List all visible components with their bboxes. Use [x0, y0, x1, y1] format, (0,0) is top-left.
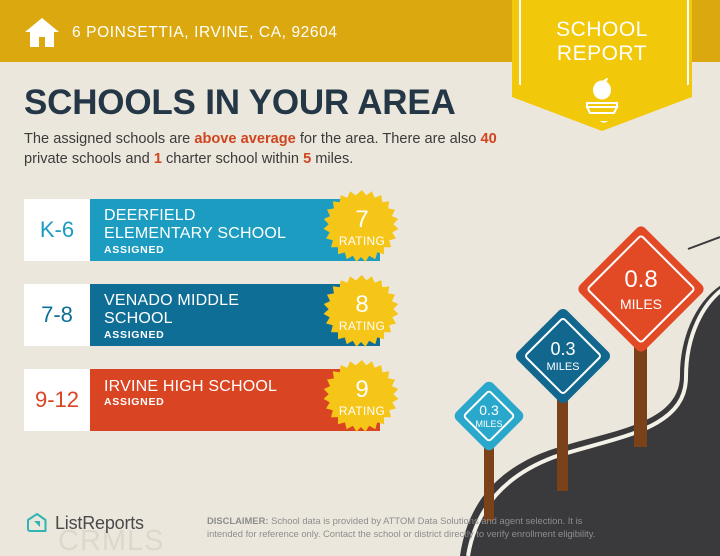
- rating-value: 9: [322, 376, 402, 404]
- sign-distance: 0.3: [479, 403, 498, 417]
- sign-post: [557, 391, 568, 491]
- school-name-line1: VENADO MIDDLE: [104, 292, 319, 310]
- badge-title-line2: REPORT: [512, 42, 692, 66]
- sign-unit: MILES: [546, 362, 579, 373]
- grade-badge: K-6: [24, 199, 90, 261]
- school-name-line2: ELEMENTARY SCHOOL: [104, 225, 319, 243]
- road-far-edge: [688, 237, 720, 249]
- rating-label: RATING: [322, 319, 402, 333]
- rating-label: RATING: [322, 404, 402, 418]
- school-status: ASSIGNED: [104, 244, 164, 256]
- road-scene: 0.3 MILES 0.3 MILES 0.8 MILES: [430, 225, 720, 556]
- listreports-logo: ListReports: [26, 512, 144, 534]
- grade-badge: 9-12: [24, 369, 90, 431]
- listreports-wordmark: ListReports: [55, 513, 144, 534]
- school-name: DEERFIELD ELEMENTARY SCHOOL: [104, 207, 319, 242]
- sign-unit: MILES: [475, 420, 502, 429]
- school-name-line2: SCHOOL: [104, 310, 319, 328]
- school-report-badge: SCHOOL REPORT: [512, 0, 692, 131]
- badge-title-line1: SCHOOL: [512, 18, 692, 42]
- subtitle-highlight-private-count: 40: [480, 131, 496, 147]
- school-name-line1: IRVINE HIGH SCHOOL: [104, 378, 319, 396]
- subtitle-highlight-rating: above average: [194, 131, 295, 147]
- school-name: VENADO MIDDLE SCHOOL: [104, 292, 319, 327]
- subtitle-part3: private schools and: [24, 151, 154, 167]
- school-status: ASSIGNED: [104, 329, 164, 341]
- sign-distance: 0.3: [550, 340, 575, 358]
- badge-title: SCHOOL REPORT: [512, 18, 692, 66]
- subtitle-part5: miles.: [311, 151, 353, 167]
- rating-value: 7: [322, 206, 402, 234]
- disclaimer-label: DISCLAIMER:: [207, 515, 268, 526]
- property-address: 6 POINSETTIA, IRVINE, CA, 92604: [72, 24, 338, 42]
- rating-starburst: 7 RATING: [322, 190, 402, 270]
- apple-on-books-icon: [578, 76, 626, 116]
- rating-starburst: 8 RATING: [322, 275, 402, 355]
- school-report-infographic: 0.3 MILES 0.3 MILES 0.8 MILES: [0, 0, 720, 556]
- rating-starburst: 9 RATING: [322, 360, 402, 440]
- sign-unit: MILES: [620, 297, 662, 311]
- disclaimer: DISCLAIMER: School data is provided by A…: [207, 515, 617, 540]
- subtitle-part1: The assigned schools are: [24, 131, 194, 147]
- rating-value: 8: [322, 291, 402, 319]
- sign-label: 0.3 MILES: [528, 321, 598, 391]
- school-name-line1: DEERFIELD: [104, 207, 319, 225]
- subtitle-highlight-radius: 5: [303, 151, 311, 167]
- sign-label: 0.3 MILES: [463, 390, 515, 442]
- sign-label: 0.8 MILES: [595, 243, 687, 335]
- subtitle-part2: for the area. There are also: [296, 131, 481, 147]
- sign-post: [634, 337, 647, 447]
- grade-badge: 7-8: [24, 284, 90, 346]
- school-status: ASSIGNED: [104, 396, 164, 408]
- subtitle-part4: charter school within: [162, 151, 303, 167]
- subtitle-highlight-charter-count: 1: [154, 151, 162, 167]
- rating-label: RATING: [322, 234, 402, 248]
- subtitle: The assigned schools are above average f…: [24, 130, 504, 169]
- page-title: SCHOOLS IN YOUR AREA: [24, 83, 456, 123]
- sign-distance: 0.8: [624, 268, 657, 292]
- school-name: IRVINE HIGH SCHOOL: [104, 378, 319, 396]
- listreports-house-tag-icon: [26, 512, 48, 534]
- home-icon: [24, 16, 60, 48]
